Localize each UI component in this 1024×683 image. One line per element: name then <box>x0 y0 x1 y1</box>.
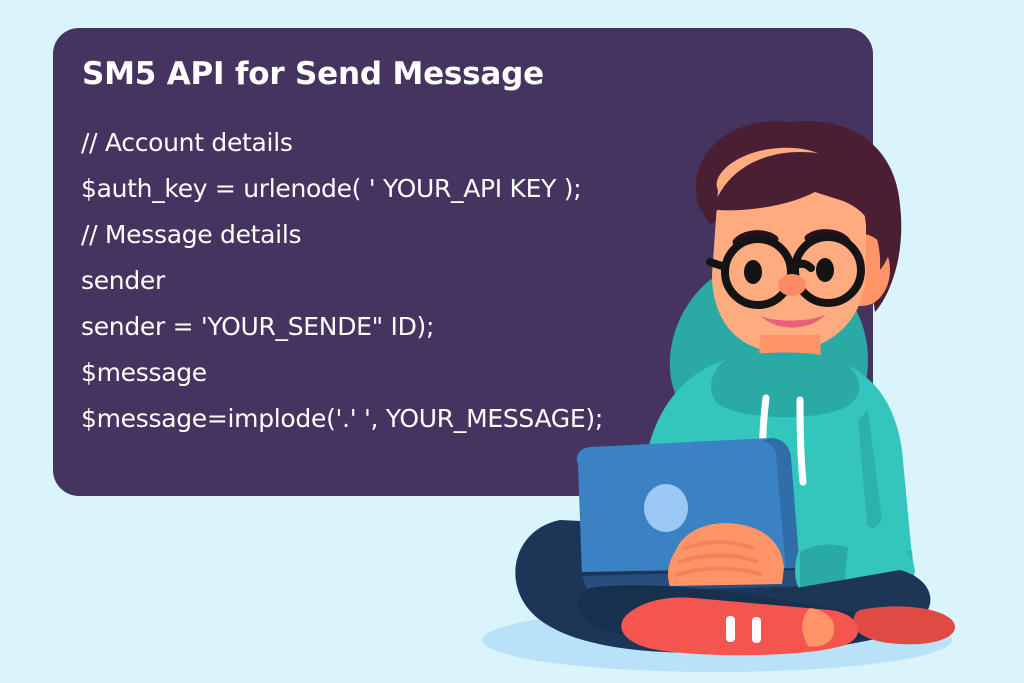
illustration-canvas: SM5 API for Send Message // Account deta… <box>0 0 1024 683</box>
character-illustration <box>470 120 970 660</box>
nose <box>778 274 806 296</box>
page-title: SM5 API for Send Message <box>82 56 544 92</box>
